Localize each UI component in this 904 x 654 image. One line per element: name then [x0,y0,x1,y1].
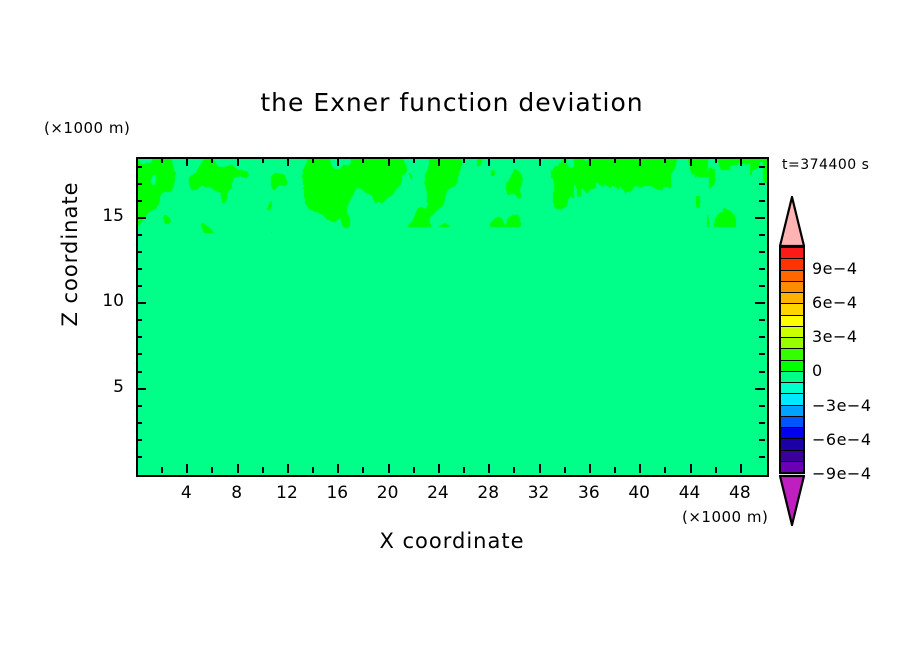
x-tick-top [463,157,465,163]
timestamp-annotation: t=374400 s [782,157,869,173]
x-tick-bottom [513,467,515,473]
y-tick-right [759,422,765,424]
y-tick-left [136,302,146,304]
colorbar-bands [779,246,805,474]
colorbar-band [781,316,803,327]
x-tick-top [740,157,742,166]
x-tick-bottom [614,467,616,473]
y-tick-left [136,388,146,390]
colorbar-band [781,439,803,450]
x-tick-top [287,157,289,166]
x-tick-bottom [186,464,188,473]
y-tick-left [136,456,142,458]
y-tick-right [759,183,765,185]
y-axis-unit-label: (×1000 m) [44,119,130,137]
x-tick-bottom [237,464,239,473]
y-tick-left [136,234,142,236]
y-tick-right [759,200,765,202]
colorbar-tick-label: 3e−4 [812,327,858,346]
x-tick-top [438,157,440,166]
colorbar-tick-label: −3e−4 [812,396,872,415]
y-tick-right [759,353,765,355]
x-tick-bottom [539,464,541,473]
x-tick-top [715,157,717,163]
colorbar-tick-label: 6e−4 [812,293,858,312]
colorbar-band [781,428,803,439]
x-tick-bottom [287,464,289,473]
colorbar-band [781,293,803,304]
y-tick-left [136,183,142,185]
y-tick-right [759,371,765,373]
colorbar-band [781,282,803,293]
y-tick-right [759,251,765,253]
colorbar: 9e−46e−43e−40−3e−4−6e−4−9e−4 [776,196,810,526]
contour-plot-panel [136,157,769,477]
x-tick-top [186,157,188,166]
y-tick-right [755,302,765,304]
y-tick-right [759,439,765,441]
x-tick-bottom [740,464,742,473]
colorbar-band [781,383,803,394]
x-tick-bottom [564,467,566,473]
x-tick-bottom [413,467,415,473]
colorbar-tick-label: 0 [812,361,823,380]
colorbar-tick-label: −6e−4 [812,430,872,449]
x-tick-bottom [161,467,163,473]
colorbar-over-arrow-icon [779,196,805,246]
chart-title: the Exner function deviation [0,88,904,117]
colorbar-band [781,451,803,462]
x-tick-top [362,157,364,163]
x-tick-top [564,157,566,163]
colorbar-band [781,372,803,383]
x-tick-bottom [211,467,213,473]
y-tick-label: 5 [74,377,124,397]
x-tick-top [262,157,264,163]
x-tick-top [161,157,163,163]
colorbar-band [781,327,803,338]
contour-field [138,159,767,475]
x-tick-bottom [337,464,339,473]
y-tick-right [759,456,765,458]
x-tick-top [413,157,415,163]
x-tick-bottom [589,464,591,473]
x-tick-top [237,157,239,166]
colorbar-tick-label: 9e−4 [812,259,858,278]
x-axis-title: X coordinate [0,529,904,553]
colorbar-band [781,361,803,372]
colorbar-band [781,248,803,259]
y-tick-left [136,319,142,321]
x-tick-bottom [438,464,440,473]
x-tick-top [312,157,314,163]
y-tick-left [136,439,142,441]
y-axis-title: Z coordinate [58,154,82,354]
x-tick-bottom [388,464,390,473]
x-tick-bottom [463,467,465,473]
y-tick-right [755,217,765,219]
x-tick-top [211,157,213,163]
y-tick-left [136,251,142,253]
colorbar-under-arrow-icon [779,474,805,526]
colorbar-band [781,304,803,315]
x-tick-bottom [715,467,717,473]
y-tick-left [136,268,142,270]
x-tick-top [388,157,390,166]
x-tick-bottom [312,467,314,473]
y-tick-right [759,166,765,168]
x-tick-top [539,157,541,166]
colorbar-band [781,259,803,270]
y-tick-right [759,336,765,338]
colorbar-band [781,394,803,405]
colorbar-band [781,271,803,282]
y-tick-right [759,268,765,270]
x-tick-label: 48 [710,483,770,503]
x-tick-bottom [262,467,264,473]
colorbar-band [781,349,803,360]
y-tick-left [136,422,142,424]
y-tick-right [759,234,765,236]
colorbar-band [781,338,803,349]
x-tick-bottom [639,464,641,473]
y-tick-left [136,336,142,338]
y-tick-left [136,405,142,407]
colorbar-band [781,462,803,472]
x-tick-top [513,157,515,163]
colorbar-band [781,417,803,428]
colorbar-tick-label: −9e−4 [812,464,872,483]
x-tick-bottom [362,467,364,473]
x-tick-top [690,157,692,166]
x-tick-bottom [488,464,490,473]
y-tick-right [755,388,765,390]
x-tick-top [488,157,490,166]
y-tick-left [136,200,142,202]
x-tick-top [639,157,641,166]
y-tick-left [136,285,142,287]
y-tick-right [759,405,765,407]
y-tick-left [136,371,142,373]
y-tick-right [759,285,765,287]
y-tick-right [759,319,765,321]
x-tick-top [614,157,616,163]
x-tick-top [337,157,339,166]
x-tick-bottom [690,464,692,473]
figure-canvas: the Exner function deviation (×1000 m) t… [0,0,904,654]
x-tick-top [589,157,591,166]
y-tick-left [136,166,142,168]
x-axis-unit-label: (×1000 m) [682,508,768,526]
x-tick-top [664,157,666,163]
colorbar-band [781,406,803,417]
x-tick-bottom [664,467,666,473]
y-tick-left [136,217,146,219]
y-tick-left [136,353,142,355]
